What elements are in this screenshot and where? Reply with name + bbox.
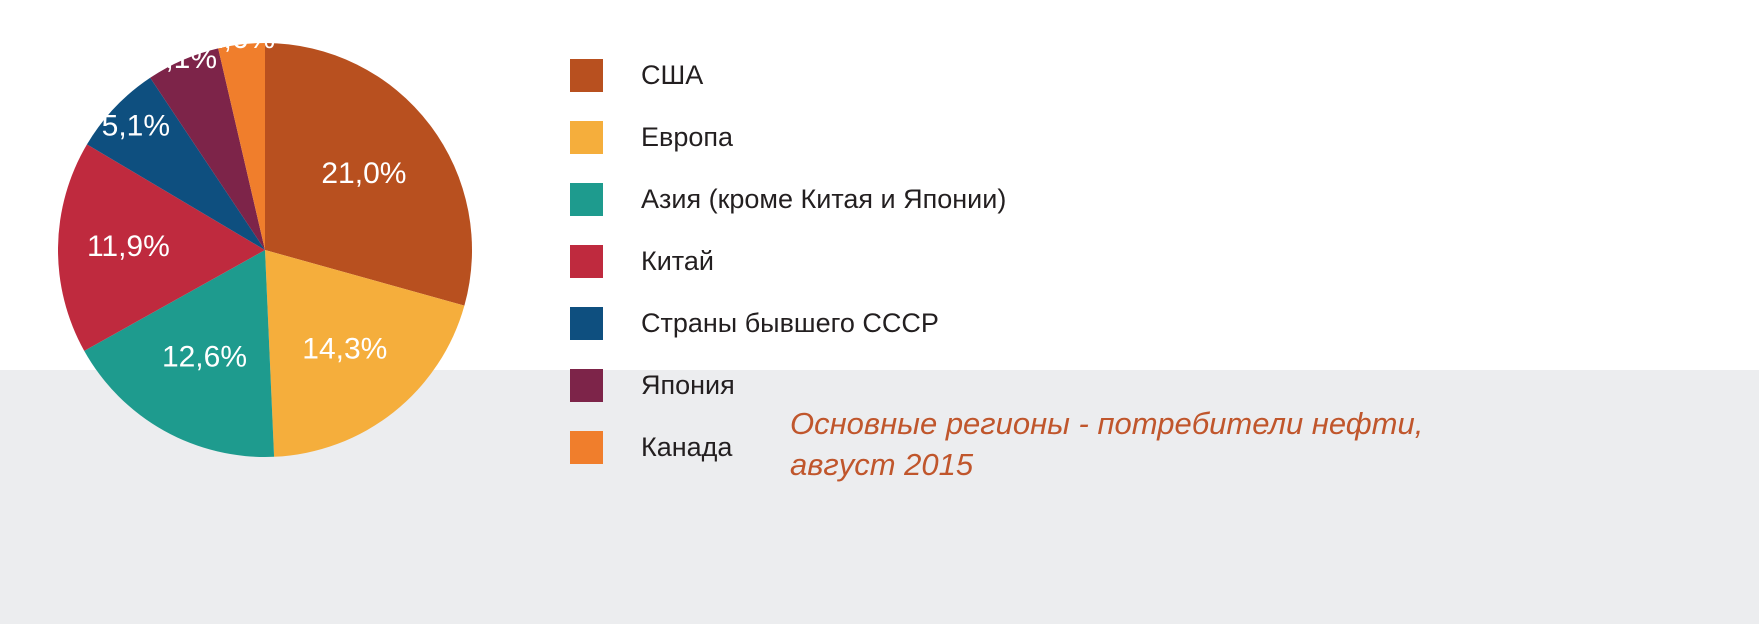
legend-swatch-usa: [570, 59, 603, 92]
legend-swatch-china: [570, 245, 603, 278]
legend-item[interactable]: США: [570, 44, 1190, 106]
chart-caption: Основные регионы - потребители нефти, ав…: [790, 404, 1550, 486]
chart-caption-line-1: Основные регионы - потребители нефти,: [790, 404, 1550, 445]
legend-swatch-europe: [570, 121, 603, 154]
pie-chart-svg: 21,0%14,3%12,6%11,9%5,1%4,1%2,6%: [58, 43, 472, 457]
pie-chart: 21,0%14,3%12,6%11,9%5,1%4,1%2,6%: [58, 43, 472, 457]
pie-slice-label: 21,0%: [321, 157, 406, 190]
legend-swatch-canada: [570, 431, 603, 464]
pie-slice-label: 5,1%: [102, 109, 170, 142]
legend-item[interactable]: Китай: [570, 230, 1190, 292]
legend-label-europe: Европа: [641, 124, 733, 151]
pie-slice-label: 14,3%: [302, 332, 387, 365]
legend-label-usa: США: [641, 62, 703, 89]
pie-slice-label: 12,6%: [162, 340, 247, 373]
legend-swatch-japan: [570, 369, 603, 402]
pie-slice-label: 2,6%: [207, 22, 275, 55]
legend-label-canada: Канада: [641, 434, 732, 461]
pie-slice-label: 11,9%: [87, 230, 170, 263]
legend-item[interactable]: Европа: [570, 106, 1190, 168]
legend-label-asia: Азия (кроме Китая и Японии): [641, 186, 1006, 213]
legend-swatch-asia: [570, 183, 603, 216]
legend-swatch-ussr: [570, 307, 603, 340]
legend-item[interactable]: Азия (кроме Китая и Японии): [570, 168, 1190, 230]
legend-label-china: Китай: [641, 248, 714, 275]
legend-item[interactable]: Страны бывшего СССР: [570, 292, 1190, 354]
legend-label-japan: Япония: [641, 372, 735, 399]
chart-caption-line-2: август 2015: [790, 445, 1550, 486]
legend-label-ussr: Страны бывшего СССР: [641, 310, 939, 337]
